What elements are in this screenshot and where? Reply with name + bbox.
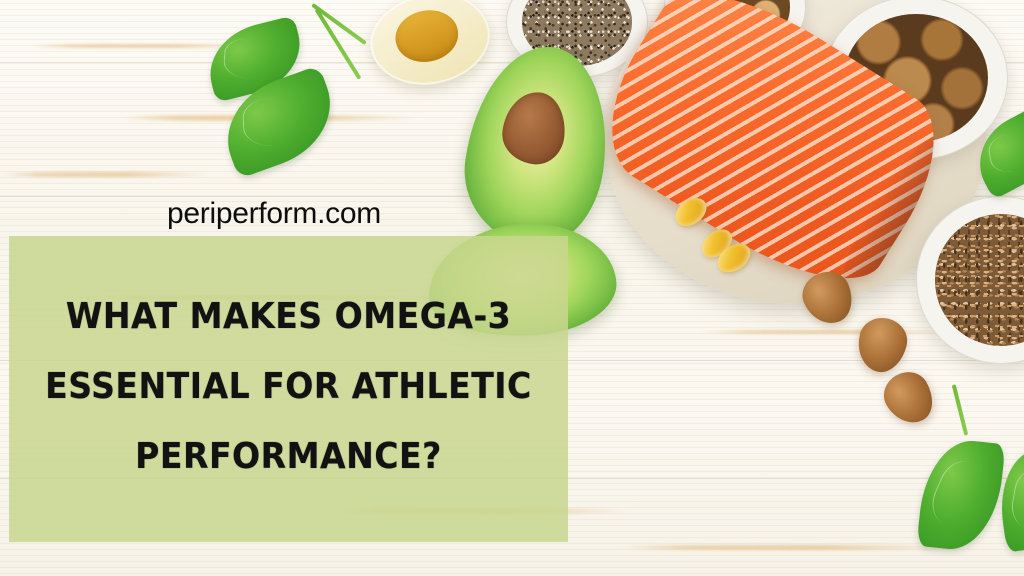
headline: WHAT MAKES OMEGA-3 ESSENTIAL FOR ATHLETI… xyxy=(31,282,545,492)
wood-grain xyxy=(0,172,210,177)
website-brand-text: periperform.com xyxy=(167,199,381,229)
wood-grain xyxy=(700,330,960,334)
flax-seeds xyxy=(935,214,1024,345)
headline-line-1: WHAT MAKES OMEGA-3 xyxy=(31,282,545,352)
wood-grain xyxy=(620,545,960,550)
hero-graphic: periperform.com WHAT MAKES OMEGA-3 ESSEN… xyxy=(0,0,1024,576)
headline-line-2: ESSENTIAL FOR ATHLETIC xyxy=(31,352,545,422)
headline-banner: WHAT MAKES OMEGA-3 ESSENTIAL FOR ATHLETI… xyxy=(9,236,568,542)
headline-line-3: PERFORMANCE? xyxy=(31,422,545,492)
